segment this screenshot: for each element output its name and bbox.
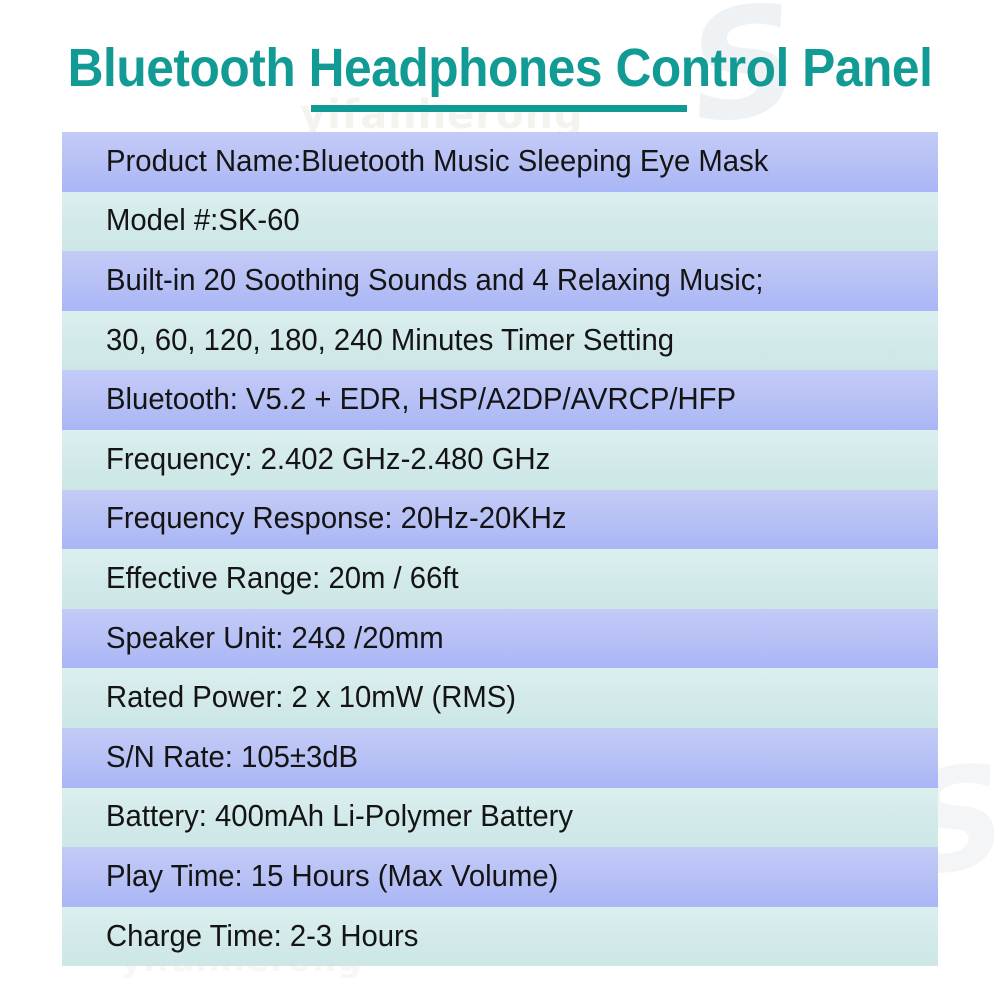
specification-table: Product Name:Bluetooth Music Sleeping Ey… [62,132,938,966]
spec-row-text: Model #:SK-60 [106,204,300,236]
table-row: Play Time: 15 Hours (Max Volume) [62,847,938,907]
table-row: 30, 60, 120, 180, 240 Minutes Timer Sett… [62,311,938,371]
spec-row-text: S/N Rate: 105±3dB [106,741,358,773]
spec-row-text: Play Time: 15 Hours (Max Volume) [106,860,558,892]
table-row: Speaker Unit: 24Ω /20mm [62,609,938,669]
panel-header: Bluetooth Headphones Control Panel [0,0,1000,130]
spec-row-text: Bluetooth: V5.2 + EDR, HSP/A2DP/AVRCP/HF… [106,383,736,415]
spec-row-text: Frequency: 2.402 GHz-2.480 GHz [106,443,550,475]
table-row: Effective Range: 20m / 66ft [62,549,938,609]
table-row: Frequency: 2.402 GHz-2.480 GHz [62,430,938,490]
table-row: Bluetooth: V5.2 + EDR, HSP/A2DP/AVRCP/HF… [62,370,938,430]
table-row: Battery: 400mAh Li-Polymer Battery [62,788,938,848]
spec-row-text: Charge Time: 2-3 Hours [106,920,418,952]
table-row: Model #:SK-60 [62,192,938,252]
spec-row-text: Battery: 400mAh Li-Polymer Battery [106,800,573,832]
spec-row-text: Effective Range: 20m / 66ft [106,562,459,594]
table-row: Product Name:Bluetooth Music Sleeping Ey… [62,132,938,192]
spec-row-text: Built-in 20 Soothing Sounds and 4 Relaxi… [106,264,764,296]
spec-row-text: Speaker Unit: 24Ω /20mm [106,622,444,654]
table-row: Rated Power: 2 x 10mW (RMS) [62,668,938,728]
control-panel-image: S S S yifanherong yifanherong yifanheron… [0,0,1000,1000]
spec-row-text: 30, 60, 120, 180, 240 Minutes Timer Sett… [106,324,674,356]
table-row: Frequency Response: 20Hz-20KHz [62,490,938,550]
spec-row-text: Product Name:Bluetooth Music Sleeping Ey… [106,145,768,177]
title-underline-divider [311,105,687,112]
spec-row-text: Frequency Response: 20Hz-20KHz [106,502,567,534]
table-row: Built-in 20 Soothing Sounds and 4 Relaxi… [62,251,938,311]
table-row: Charge Time: 2-3 Hours [62,907,938,967]
page-title: Bluetooth Headphones Control Panel [40,39,960,97]
spec-row-text: Rated Power: 2 x 10mW (RMS) [106,681,516,713]
table-row: S/N Rate: 105±3dB [62,728,938,788]
